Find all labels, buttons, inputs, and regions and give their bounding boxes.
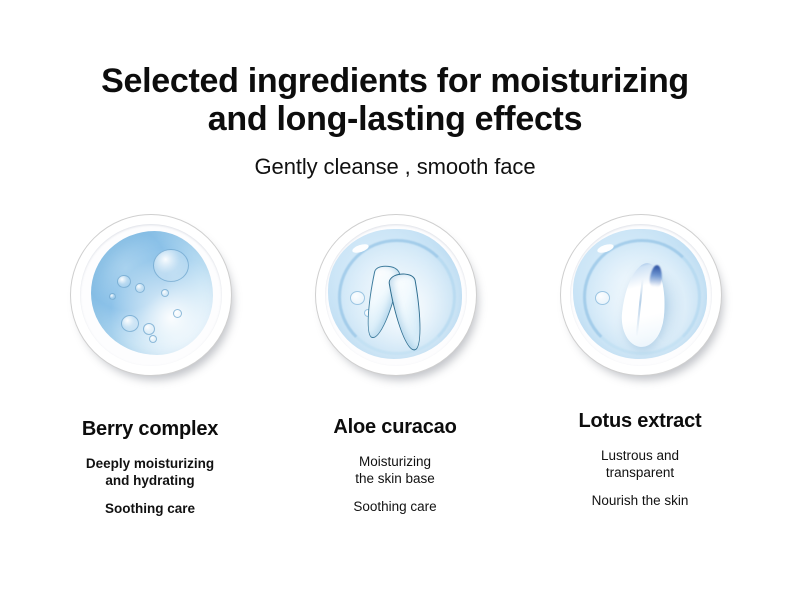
gel-blob-icon xyxy=(91,231,213,355)
swatch-dish-lotus-extract xyxy=(552,208,728,384)
dish-plate xyxy=(70,214,232,376)
bubble-icon xyxy=(161,289,169,297)
benefit-line: Lustrous and xyxy=(518,447,763,464)
bubble-icon xyxy=(117,275,131,288)
benefit-line: the skin base xyxy=(273,470,518,487)
ingredient-caption: Aloe curacao Moisturizing the skin base … xyxy=(273,416,518,515)
bubble-icon xyxy=(109,293,116,300)
ingredient-name: Berry complex xyxy=(28,418,273,441)
benefit-line: transparent xyxy=(518,464,763,481)
ingredient-benefit-primary: Deeply moisturizing and hydrating xyxy=(28,455,273,489)
ingredient-column-lotus-extract: Lotus extract Lustrous and transparent N… xyxy=(518,208,763,509)
ingredient-benefit-primary: Moisturizing the skin base xyxy=(273,453,518,487)
bubble-icon xyxy=(135,283,145,293)
benefit-line: Moisturizing xyxy=(273,453,518,470)
ingredient-benefit-primary: Lustrous and transparent xyxy=(518,447,763,481)
bubble-icon xyxy=(153,249,189,282)
bubble-icon xyxy=(143,323,155,335)
swatch-dish-berry-complex xyxy=(62,208,238,384)
header: Selected ingredients for moisturizing an… xyxy=(0,0,790,180)
swatch-dish-aloe-curacao xyxy=(307,208,483,384)
bubble-icon xyxy=(350,291,365,305)
page-title-line-1: Selected ingredients for moisturizing xyxy=(85,62,705,100)
petal-fold xyxy=(636,279,644,337)
bubble-icon xyxy=(149,335,157,343)
ingredient-benefit-secondary: Soothing care xyxy=(28,500,273,517)
ingredient-caption: Berry complex Deeply moisturizing and hy… xyxy=(28,418,273,517)
ingredient-column-berry-complex: Berry complex Deeply moisturizing and hy… xyxy=(28,208,273,517)
gel-pool-icon xyxy=(328,229,462,359)
ingredient-name: Aloe curacao xyxy=(273,416,518,439)
benefit-line: and hydrating xyxy=(28,472,273,489)
ingredient-caption: Lotus extract Lustrous and transparent N… xyxy=(518,410,763,509)
benefit-line: Deeply moisturizing xyxy=(28,455,273,472)
bubble-icon xyxy=(121,315,139,332)
ingredient-benefit-secondary: Soothing care xyxy=(273,498,518,515)
page-title-line-2: and long-lasting effects xyxy=(85,100,705,138)
bubble-icon xyxy=(595,291,610,305)
gel-pool-icon xyxy=(573,229,707,359)
dish-plate xyxy=(315,214,477,376)
page-subtitle: Gently cleanse , smooth face xyxy=(0,154,790,180)
ingredient-name: Lotus extract xyxy=(518,410,763,433)
page-title: Selected ingredients for moisturizing an… xyxy=(85,62,705,138)
dish-plate xyxy=(560,214,722,376)
ingredient-columns: Berry complex Deeply moisturizing and hy… xyxy=(0,208,790,517)
bubble-icon xyxy=(173,309,182,318)
ingredient-benefit-secondary: Nourish the skin xyxy=(518,492,763,509)
ingredient-column-aloe-curacao: Aloe curacao Moisturizing the skin base … xyxy=(273,208,518,515)
